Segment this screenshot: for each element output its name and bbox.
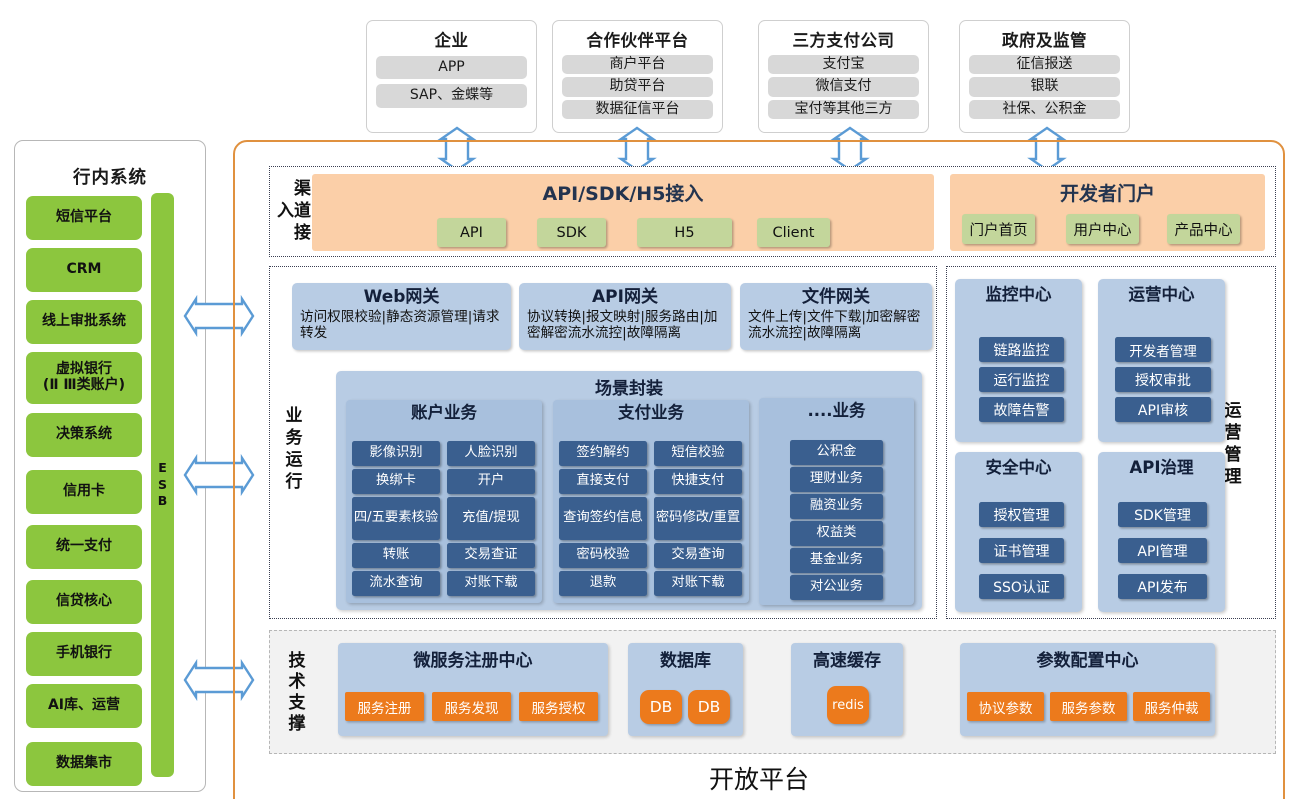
developer-portal-title: 开发者门户: [950, 179, 1265, 206]
scene-encapsulation-title: 场景封装: [336, 374, 922, 398]
esb-label-s: S: [158, 477, 167, 494]
external-item-2-0[interactable]: 支付宝: [768, 55, 919, 74]
ops-chip-0-2[interactable]: 故障告警: [979, 397, 1064, 422]
scene-chip-2-0-0[interactable]: 公积金: [790, 440, 883, 465]
ops-chip-1-1[interactable]: 授权审批: [1115, 367, 1211, 392]
external-box-government-regulator: 政府及监管 征信报送 银联 社保、公积金: [959, 20, 1130, 133]
scene-chip-0-0-3[interactable]: 转账: [352, 543, 440, 568]
tech-chip-3-0[interactable]: 协议参数: [967, 692, 1044, 721]
bank-system-5[interactable]: 信用卡: [26, 470, 142, 514]
ops-chip-3-2[interactable]: API发布: [1118, 574, 1207, 599]
gateway-desc-2: 文件上传|文件下载|加密解密流水流控|故障隔离: [748, 309, 924, 341]
channel-chip-h5[interactable]: H5: [637, 218, 732, 247]
ops-chip-0-1[interactable]: 运行监控: [979, 367, 1064, 392]
external-box-enterprise: 企业 APP SAP、金蝶等: [366, 20, 537, 133]
bank-system-6[interactable]: 统一支付: [26, 525, 142, 569]
ops-card-title-1: 运营中心: [1129, 285, 1195, 305]
tech-support-vertical-label: 技术支撑: [279, 640, 309, 745]
scene-group-title-0: 账户业务: [346, 403, 542, 423]
scene-chip-1-0-0[interactable]: 签约解约: [559, 441, 647, 466]
scene-chip-0-0-4[interactable]: 流水查询: [352, 571, 440, 596]
business-runtime-vertical-label: 业务运行: [276, 400, 306, 500]
ops-chip-1-2[interactable]: API审核: [1115, 397, 1211, 422]
gateway-desc-1: 协议转换|报文映射|服务路由|加密解密流水流控|故障隔离: [527, 309, 723, 341]
esb-label-b: B: [158, 493, 168, 510]
scene-chip-0-0-2[interactable]: 四/五要素核验: [352, 497, 440, 540]
tech-card-title-1: 数据库: [628, 651, 743, 671]
open-platform-caption: 开放平台: [233, 758, 1285, 798]
scene-chip-0-0-0[interactable]: 影像识别: [352, 441, 440, 466]
bank-system-8[interactable]: 手机银行: [26, 632, 142, 676]
bank-system-1[interactable]: CRM: [26, 248, 142, 292]
gateway-card-web[interactable]: Web网关 访问权限校验|静态资源管理|请求转发: [292, 283, 511, 350]
scene-chip-2-0-3[interactable]: 权益类: [790, 521, 883, 546]
channel-chip-client[interactable]: Client: [757, 218, 830, 247]
external-item-1-2[interactable]: 数据征信平台: [562, 100, 713, 119]
ops-chip-2-0[interactable]: 授权管理: [979, 502, 1064, 527]
scene-chip-1-1-2[interactable]: 密码修改/重置: [654, 497, 742, 540]
bank-system-10[interactable]: 数据集市: [26, 742, 142, 786]
tech-chip-3-2[interactable]: 服务仲裁: [1133, 692, 1210, 721]
scene-chip-1-1-1[interactable]: 快捷支付: [654, 469, 742, 494]
portal-chip-user-center[interactable]: 用户中心: [1066, 214, 1139, 244]
portal-chip-home[interactable]: 门户首页: [962, 214, 1035, 244]
tech-card-title-2: 高速缓存: [791, 651, 903, 671]
tech-chip-0-1[interactable]: 服务发现: [432, 692, 511, 721]
channel-access-vertical-label: 渠道接入: [276, 172, 306, 252]
ops-chip-0-0[interactable]: 链路监控: [979, 337, 1064, 362]
gateway-card-api[interactable]: API网关 协议转换|报文映射|服务路由|加密解密流水流控|故障隔离: [519, 283, 731, 350]
scene-group-title-2: ....业务: [759, 401, 914, 421]
scene-chip-1-0-4[interactable]: 退款: [559, 571, 647, 596]
external-title-2: 三方支付公司: [768, 27, 919, 51]
ops-chip-3-0[interactable]: SDK管理: [1118, 502, 1207, 527]
tech-card-title-3: 参数配置中心: [960, 651, 1215, 671]
api-sdk-h5-access-card: API/SDK/H5接入: [312, 174, 934, 251]
scene-chip-0-0-1[interactable]: 换绑卡: [352, 469, 440, 494]
gateway-title-0: Web网关: [300, 288, 503, 308]
ops-card-title-2: 安全中心: [986, 458, 1052, 478]
external-item-1-0[interactable]: 商户平台: [562, 55, 713, 74]
ops-chip-2-1[interactable]: 证书管理: [979, 538, 1064, 563]
tech-chip-0-0[interactable]: 服务注册: [345, 692, 424, 721]
bank-system-3[interactable]: 虚拟银行 (Ⅱ Ⅲ类账户): [26, 352, 142, 404]
ops-chip-1-0[interactable]: 开发者管理: [1115, 337, 1211, 362]
scene-chip-0-1-4[interactable]: 对账下载: [447, 571, 535, 596]
external-box-partner-platform: 合作伙伴平台 商户平台 助贷平台 数据征信平台: [552, 20, 723, 133]
gateway-card-file[interactable]: 文件网关 文件上传|文件下载|加密解密流水流控|故障隔离: [740, 283, 932, 350]
internal-systems-title: 行内系统: [14, 163, 206, 189]
bank-system-4[interactable]: 决策系统: [26, 413, 142, 457]
scene-chip-2-0-5[interactable]: 对公业务: [790, 575, 883, 600]
external-item-3-1[interactable]: 银联: [969, 77, 1120, 96]
portal-chip-product-center[interactable]: 产品中心: [1167, 214, 1240, 244]
api-sdk-h5-access-title: API/SDK/H5接入: [312, 179, 934, 206]
scene-chip-0-1-3[interactable]: 交易查证: [447, 543, 535, 568]
esb-label-e: E: [158, 460, 167, 477]
gateway-title-2: 文件网关: [748, 288, 924, 308]
esb-bus: E S B: [151, 193, 174, 777]
scene-chip-1-1-0[interactable]: 短信校验: [654, 441, 742, 466]
external-item-2-2[interactable]: 宝付等其他三方: [768, 100, 919, 119]
external-title-3: 政府及监管: [969, 27, 1120, 51]
scene-chip-2-0-2[interactable]: 融资业务: [790, 494, 883, 519]
scene-chip-1-1-3[interactable]: 交易查询: [654, 543, 742, 568]
scene-chip-1-0-3[interactable]: 密码校验: [559, 543, 647, 568]
bank-system-0[interactable]: 短信平台: [26, 196, 142, 240]
external-item-1-1[interactable]: 助贷平台: [562, 77, 713, 96]
tech-chip-3-1[interactable]: 服务参数: [1050, 692, 1127, 721]
channel-chip-sdk[interactable]: SDK: [537, 218, 606, 247]
scene-chip-2-0-1[interactable]: 理财业务: [790, 467, 883, 492]
gateway-desc-0: 访问权限校验|静态资源管理|请求转发: [300, 309, 503, 341]
tech-chip-1-1[interactable]: DB: [688, 690, 730, 724]
diagram-canvas: 行内系统 短信平台 CRM 线上审批系统 虚拟银行 (Ⅱ Ⅲ类账户) 决策系统 …: [0, 0, 1299, 799]
bank-system-9[interactable]: AI库、运营: [26, 684, 142, 728]
scene-chip-1-0-2[interactable]: 查询签约信息: [559, 497, 647, 540]
tech-chip-0-2[interactable]: 服务授权: [519, 692, 598, 721]
scene-group-title-1: 支付业务: [553, 403, 749, 423]
scene-chip-0-1-0[interactable]: 人脸识别: [447, 441, 535, 466]
gateway-title-1: API网关: [527, 288, 723, 308]
ops-chip-2-2[interactable]: SSO认证: [979, 574, 1064, 599]
ops-card-title-3: API治理: [1129, 458, 1193, 478]
scene-chip-1-0-1[interactable]: 直接支付: [559, 469, 647, 494]
external-item-2-1[interactable]: 微信支付: [768, 77, 919, 96]
ops-card-title-0: 监控中心: [986, 285, 1052, 305]
ops-chip-3-1[interactable]: API管理: [1118, 538, 1207, 563]
tech-chip-1-0[interactable]: DB: [640, 690, 682, 724]
channel-chip-api[interactable]: API: [437, 218, 506, 247]
bank-system-2[interactable]: 线上审批系统: [26, 300, 142, 344]
bank-system-7[interactable]: 信贷核心: [26, 580, 142, 624]
tech-card-title-0: 微服务注册中心: [338, 651, 608, 671]
external-item-3-0[interactable]: 征信报送: [969, 55, 1120, 74]
tech-chip-2-0[interactable]: redis: [827, 686, 869, 724]
tech-card-parameter-config: 参数配置中心: [960, 643, 1215, 736]
external-item-0-1[interactable]: SAP、金蝶等: [376, 84, 527, 107]
external-title-1: 合作伙伴平台: [562, 27, 713, 51]
external-item-3-2[interactable]: 社保、公积金: [969, 100, 1120, 119]
external-title-0: 企业: [376, 27, 527, 51]
external-item-0-0[interactable]: APP: [376, 56, 527, 79]
external-box-third-party-payment: 三方支付公司 支付宝 微信支付 宝付等其他三方: [758, 20, 929, 133]
tech-card-microservice-registry: 微服务注册中心: [338, 643, 608, 736]
scene-chip-0-1-2[interactable]: 充值/提现: [447, 497, 535, 540]
scene-chip-2-0-4[interactable]: 基金业务: [790, 548, 883, 573]
scene-chip-1-1-4[interactable]: 对账下载: [654, 571, 742, 596]
scene-chip-0-1-1[interactable]: 开户: [447, 469, 535, 494]
